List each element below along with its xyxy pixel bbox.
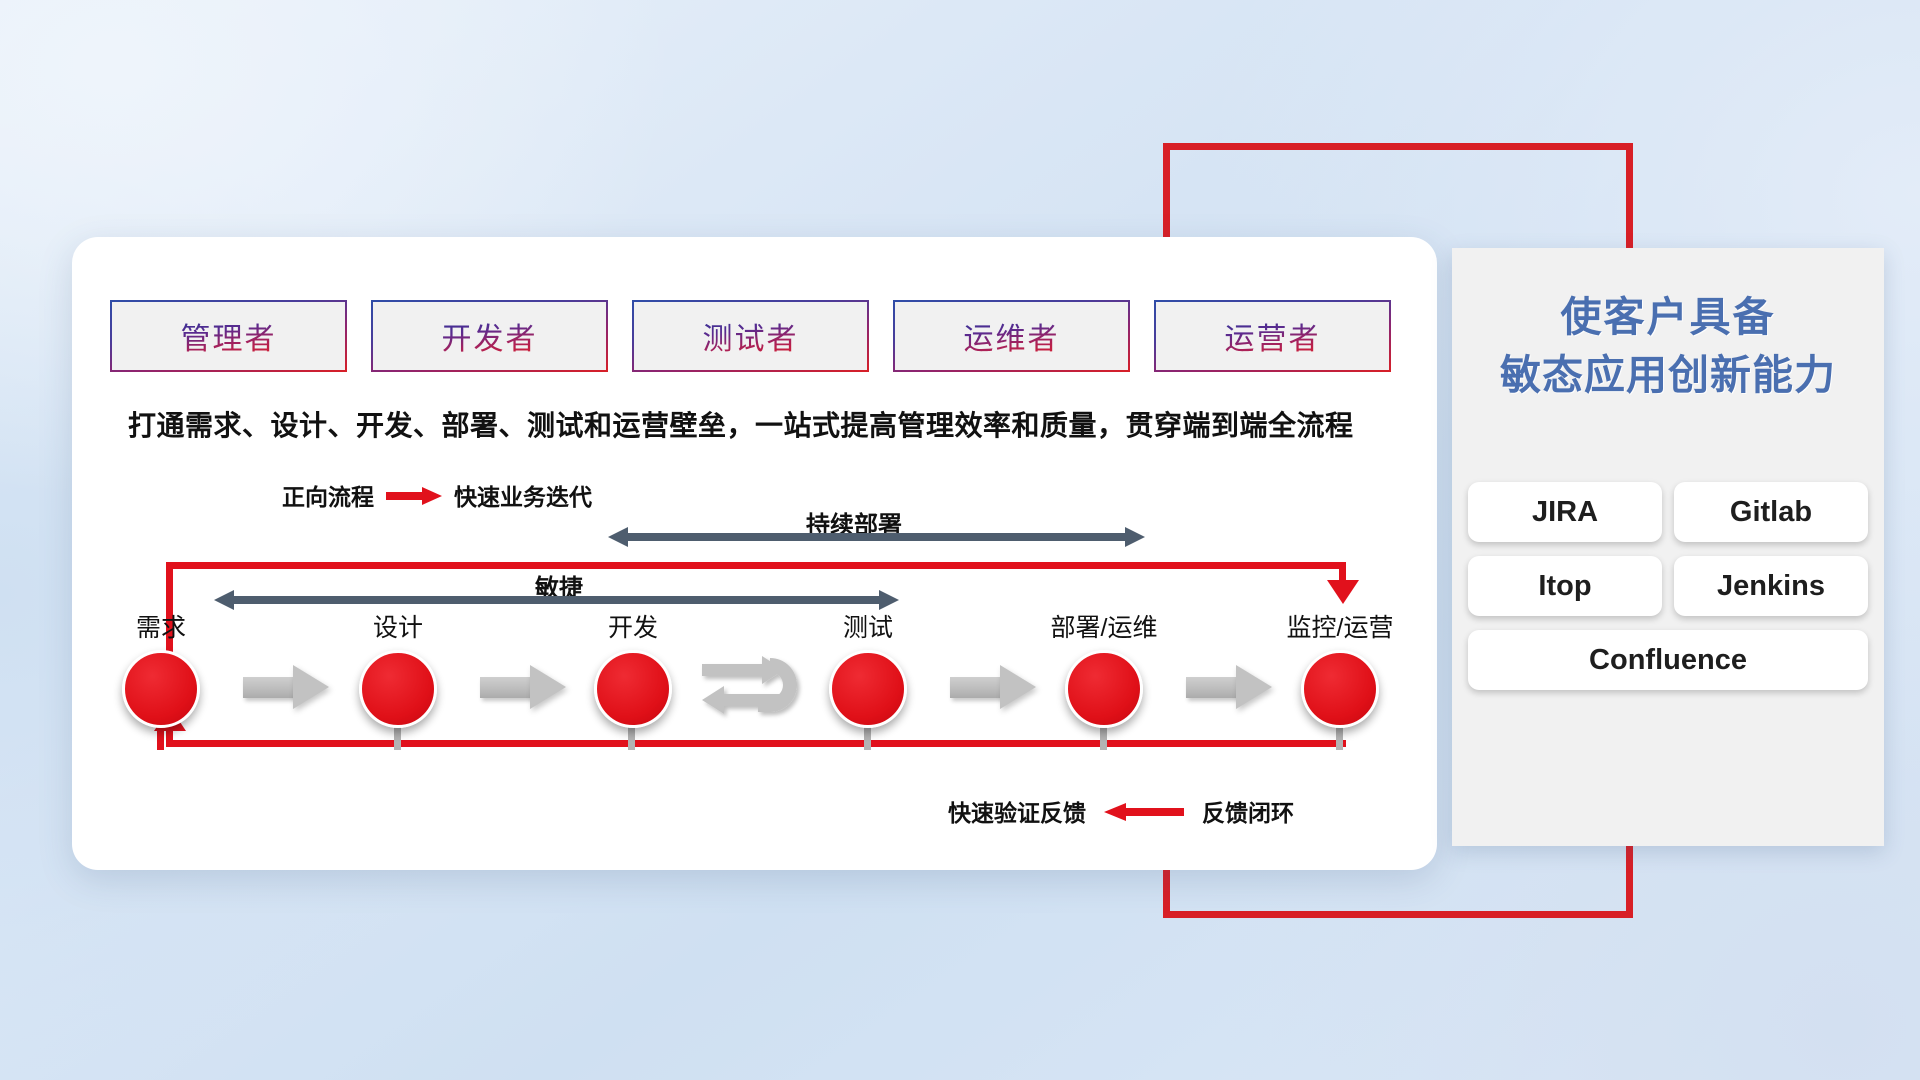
legend-feedback-left-label: 快速验证反馈 (948, 794, 1086, 828)
tools-panel-title-line2: 敏态应用创新能力 (1452, 346, 1884, 404)
tool-chip-gitlab[interactable]: Gitlab (1674, 482, 1868, 542)
tools-panel-title: 使客户具备 敏态应用创新能力 (1452, 288, 1884, 404)
pipeline-node-dot (359, 650, 437, 728)
block-arrow-right-icon-2 (480, 665, 566, 709)
block-arrow-right-icon-4 (950, 665, 1036, 709)
role-label: 测试者 (703, 314, 799, 358)
pipeline-node-testing[interactable]: 测试 (829, 650, 907, 728)
pipeline-node-deploy-ops[interactable]: 部署/运维 (1065, 650, 1143, 728)
tool-chip-jira[interactable]: JIRA (1468, 482, 1662, 542)
role-label: 运营者 (1225, 314, 1321, 358)
role-label: 运维者 (964, 314, 1060, 358)
pipeline-node-dot (594, 650, 672, 728)
role-chip-operations[interactable]: 运营者 (1156, 302, 1389, 370)
arrow-left-red-icon (1104, 804, 1184, 819)
block-arrow-right-icon-5 (1186, 665, 1272, 709)
pipeline-node-label: 监控/运营 (1287, 608, 1394, 644)
pipeline-node-label: 测试 (843, 608, 893, 644)
loop-back-arrow-icon (700, 650, 830, 730)
tool-chip-confluence[interactable]: Confluence (1468, 630, 1868, 690)
role-chip-ops[interactable]: 运维者 (895, 302, 1128, 370)
pipeline-node-label: 部署/运维 (1051, 608, 1158, 644)
pipeline-node-label: 设计 (373, 608, 423, 644)
pipeline-node-dot (1301, 650, 1379, 728)
role-label: 管理者 (181, 314, 277, 358)
role-label: 开发者 (442, 314, 538, 358)
pipeline-node-design[interactable]: 设计 (359, 650, 437, 728)
role-chip-manager[interactable]: 管理者 (112, 302, 345, 370)
role-chip-tester[interactable]: 测试者 (634, 302, 867, 370)
pipeline-node-requirement[interactable]: 需求 (122, 650, 200, 728)
slide-canvas: 管理者 开发者 测试者 运维者 运营者 打通需求、设计、开发、部署、测试和运营壁… (0, 0, 1920, 1080)
tool-chip-itop[interactable]: Itop (1468, 556, 1662, 616)
pipeline-node-development[interactable]: 开发 (594, 650, 672, 728)
legend-feedback-loop: 快速验证反馈 反馈闭环 (948, 794, 1294, 828)
pipeline-node-dot (829, 650, 907, 728)
pipeline-node-dot (122, 650, 200, 728)
tools-panel-title-line1: 使客户具备 (1452, 288, 1884, 346)
pipeline-node-dot (1065, 650, 1143, 728)
pipeline-node-label: 需求 (136, 608, 186, 644)
pipeline-node-monitor-operations[interactable]: 监控/运营 (1301, 650, 1379, 728)
tool-chip-jenkins[interactable]: Jenkins (1674, 556, 1868, 616)
role-chip-row: 管理者 开发者 测试者 运维者 运营者 (112, 302, 1389, 370)
pipeline-node-label: 开发 (608, 608, 658, 644)
role-chip-developer[interactable]: 开发者 (373, 302, 606, 370)
tools-list: JIRA Gitlab Itop Jenkins Confluence (1468, 482, 1868, 690)
legend-feedback-right-label: 反馈闭环 (1202, 794, 1294, 828)
block-arrow-right-icon-1 (243, 665, 329, 709)
